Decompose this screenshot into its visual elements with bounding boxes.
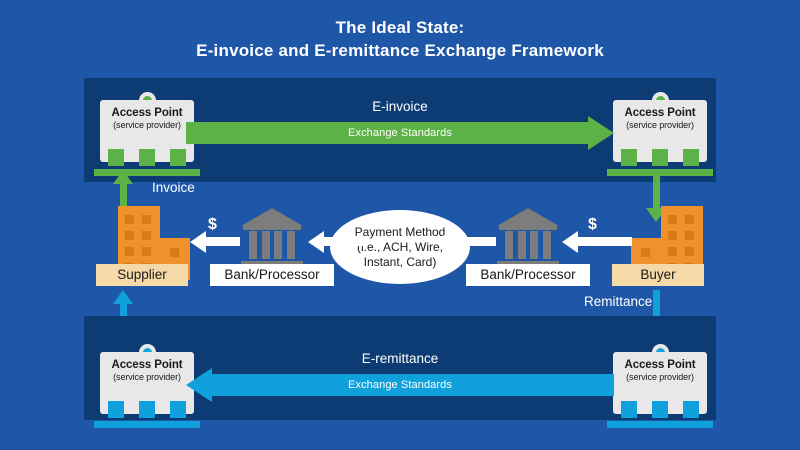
- invoice-label: Invoice: [152, 180, 195, 195]
- access-point-title: Access Point: [613, 359, 707, 372]
- dollar-symbol-left: $: [208, 216, 217, 234]
- access-point-base: [94, 421, 200, 428]
- einvoice-label: E-invoice: [186, 97, 614, 117]
- remittance-label: Remittance: [584, 294, 652, 309]
- eremittance-standards-label: Exchange Standards: [186, 374, 614, 396]
- money-arrow-buyer-to-bank-right: [562, 237, 632, 246]
- money-arrow-head-icon: [308, 231, 324, 253]
- page-title: The Ideal State: E-invoice and E-remitta…: [0, 16, 800, 62]
- money-arrow-shaft: [324, 237, 366, 246]
- access-point-bars-icon: [621, 149, 699, 166]
- bank-processor-right-label: Bank/Processor: [466, 264, 590, 286]
- bank-processor-left-label: Bank/Processor: [210, 264, 334, 286]
- einvoice-exchange-arrow: E-invoice Exchange Standards: [186, 122, 614, 144]
- buyer-label: Buyer: [612, 264, 704, 286]
- bank-processor-right-icon: [497, 208, 559, 268]
- access-point-bottom-left: Access Point (service provider): [100, 344, 194, 422]
- access-point-bars-icon: [108, 401, 186, 418]
- bank-columns-icon: [505, 231, 551, 259]
- access-point-top-right: Access Point (service provider): [613, 92, 707, 170]
- access-point-top-left: Access Point (service provider): [100, 92, 194, 170]
- eremittance-exchange-arrow: E-remittance Exchange Standards: [186, 374, 614, 396]
- bank-columns-icon: [249, 231, 295, 259]
- dollar-symbol-right: $: [588, 216, 597, 234]
- eremittance-up-head-icon: [113, 290, 133, 304]
- access-point-bars-icon: [621, 401, 699, 418]
- invoice-arrow-head-icon: [113, 170, 133, 184]
- bank-architrave: [499, 225, 557, 230]
- einvoice-standards-label: Exchange Standards: [186, 122, 614, 144]
- access-point-base: [94, 169, 200, 176]
- money-arrow-shaft: [578, 237, 632, 246]
- bank-processor-left-icon: [241, 208, 303, 268]
- eremittance-label: E-remittance: [186, 349, 614, 369]
- bank-architrave: [243, 225, 301, 230]
- payment-method-line-2: (i.e., ACH, Wire,: [357, 240, 443, 255]
- einvoice-down-shaft: [653, 170, 660, 210]
- money-arrow-head-icon: [562, 231, 578, 253]
- money-arrow-shaft: [206, 237, 240, 246]
- money-arrow-bank-right-to-payment: [434, 237, 496, 246]
- bank-roof-icon: [497, 208, 559, 226]
- payment-method-line-3: Instant, Card): [364, 255, 437, 270]
- access-point-base: [607, 421, 713, 428]
- diagram-canvas: The Ideal State: E-invoice and E-remitta…: [0, 0, 800, 450]
- access-point-subtitle: (service provider): [613, 120, 707, 131]
- bank-roof-icon: [241, 208, 303, 226]
- access-point-subtitle: (service provider): [100, 120, 194, 131]
- payment-method-line-1: Payment Method: [355, 225, 446, 240]
- access-point-bottom-right: Access Point (service provider): [613, 344, 707, 422]
- access-point-title: Access Point: [613, 107, 707, 120]
- access-point-title: Access Point: [100, 359, 194, 372]
- title-line-2: E-invoice and E-remittance Exchange Fram…: [0, 39, 800, 62]
- money-arrow-head-icon: [190, 231, 206, 253]
- money-arrow-payment-to-bank-left: [308, 237, 366, 246]
- access-point-subtitle: (service provider): [100, 372, 194, 383]
- access-point-bars-icon: [108, 149, 186, 166]
- access-point-subtitle: (service provider): [613, 372, 707, 383]
- access-point-title: Access Point: [100, 107, 194, 120]
- money-arrow-head-icon: [434, 231, 450, 253]
- money-arrow-bank-to-supplier: [190, 237, 240, 246]
- supplier-label: Supplier: [96, 264, 188, 286]
- money-arrow-shaft: [450, 237, 496, 246]
- title-line-1: The Ideal State:: [0, 16, 800, 39]
